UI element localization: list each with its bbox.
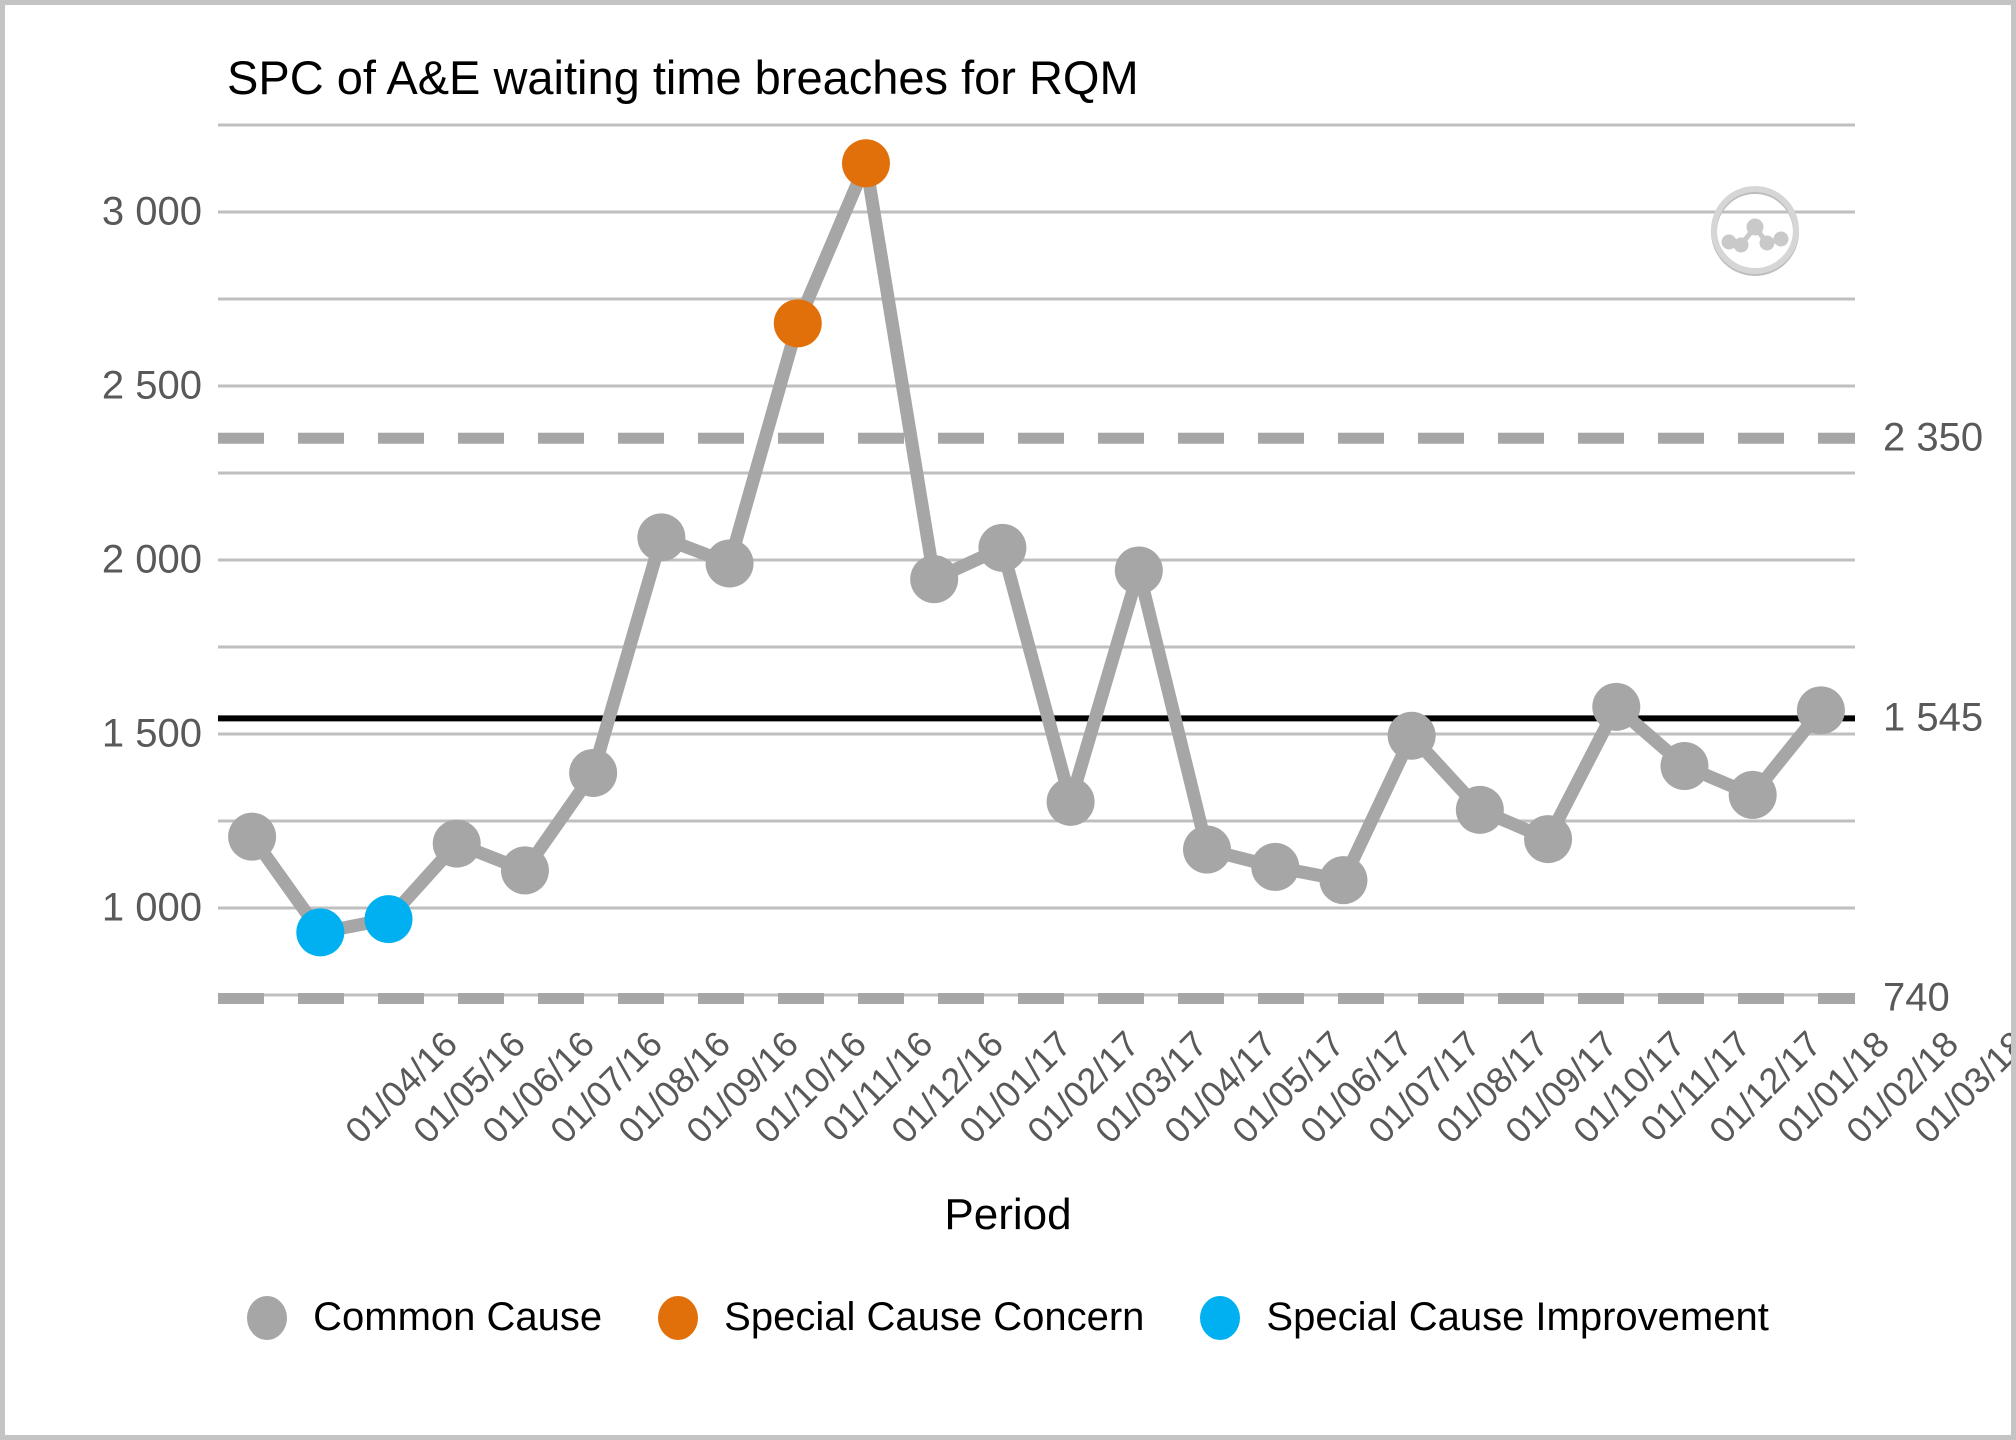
data-point-concern[interactable] — [842, 139, 890, 187]
y-axis-tick-label: 2 500 — [22, 364, 202, 409]
data-point-improvement[interactable] — [296, 908, 344, 956]
y-axis-tick-label: 1 000 — [22, 886, 202, 931]
legend-dot-icon — [247, 1296, 287, 1340]
data-point-common[interactable] — [1115, 546, 1163, 594]
series-line — [252, 163, 1821, 932]
data-point-common[interactable] — [910, 555, 958, 603]
legend-item-common[interactable]: Common Cause — [247, 1295, 602, 1340]
upper-control-limit-label: 2 350 — [1883, 416, 1983, 461]
data-point-common[interactable] — [228, 813, 276, 861]
plot-area — [218, 125, 1855, 995]
data-point-common[interactable] — [1183, 826, 1231, 874]
legend-dot-icon — [1200, 1296, 1240, 1340]
data-point-common[interactable] — [501, 846, 549, 894]
legend-label: Special Cause Improvement — [1266, 1295, 1768, 1340]
x-axis-title: Period — [5, 1190, 2011, 1240]
plot-svg — [218, 125, 1855, 995]
legend-item-concern[interactable]: Special Cause Concern — [658, 1295, 1144, 1340]
legend-dot-icon — [658, 1296, 698, 1340]
data-point-improvement[interactable] — [365, 895, 413, 943]
data-point-common[interactable] — [1388, 712, 1436, 760]
data-point-common[interactable] — [569, 749, 617, 797]
data-point-common[interactable] — [1319, 856, 1367, 904]
data-point-common[interactable] — [1251, 843, 1299, 891]
data-point-common[interactable] — [1660, 742, 1708, 790]
data-point-common[interactable] — [637, 513, 685, 561]
data-point-common[interactable] — [1592, 683, 1640, 731]
line-chart-badge-icon — [1707, 183, 1803, 279]
spc-chart-figure: SPC of A&E waiting time breaches for RQM… — [0, 0, 2016, 1440]
data-point-common[interactable] — [706, 539, 754, 587]
data-point-common[interactable] — [1797, 686, 1845, 734]
chart-legend: Common CauseSpecial Cause ConcernSpecial… — [5, 1295, 2011, 1340]
mean-centre-line-label: 1 545 — [1883, 696, 1983, 741]
lower-control-limit-label: 740 — [1883, 976, 1950, 1021]
data-point-common[interactable] — [433, 820, 481, 868]
y-axis-tick-label: 3 000 — [22, 190, 202, 235]
data-point-common[interactable] — [1047, 778, 1095, 826]
data-point-common[interactable] — [1729, 771, 1777, 819]
legend-label: Common Cause — [313, 1295, 602, 1340]
page-title: SPC of A&E waiting time breaches for RQM — [227, 50, 1139, 105]
legend-item-improvement[interactable]: Special Cause Improvement — [1200, 1295, 1768, 1340]
y-axis-tick-label: 1 500 — [22, 712, 202, 757]
data-point-common[interactable] — [978, 524, 1026, 572]
legend-label: Special Cause Concern — [724, 1295, 1144, 1340]
data-point-common[interactable] — [1524, 815, 1572, 863]
data-point-common[interactable] — [1456, 786, 1504, 834]
data-point-concern[interactable] — [774, 299, 822, 347]
y-axis-tick-label: 2 000 — [22, 538, 202, 583]
